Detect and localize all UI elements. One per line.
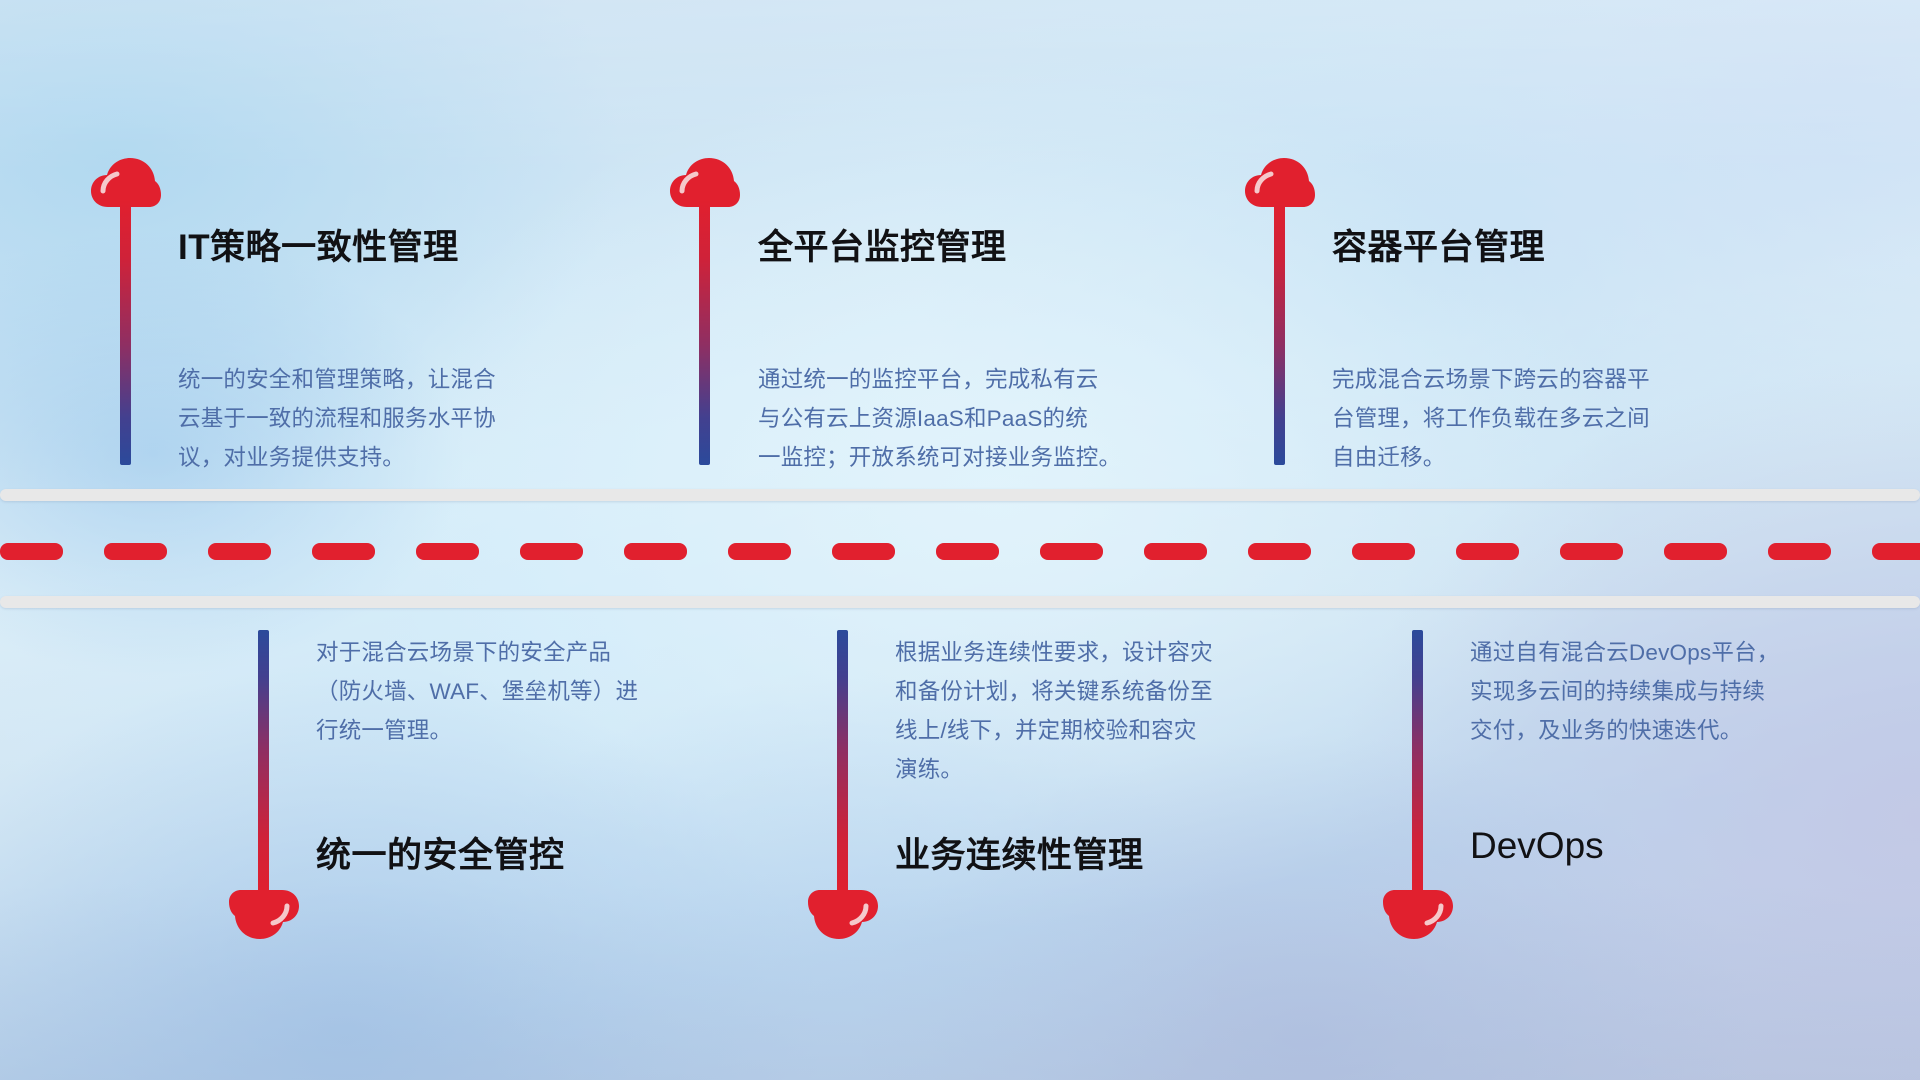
stem-bar [699, 200, 710, 465]
card-body: 根据业务连续性要求，设计容灾 和备份计划，将关键系统备份至 线上/线下，并定期校… [895, 633, 1335, 789]
road-dash [104, 543, 167, 560]
road-dash [1456, 543, 1519, 560]
road-dash [416, 543, 479, 560]
road-center-dashes [0, 543, 1920, 560]
cloud-icon [807, 888, 879, 940]
infographic-canvas: IT策略一致性管理 统一的安全和管理策略，让混合 云基于一致的流程和服务水平协 … [0, 0, 1920, 1080]
card-title: IT策略一致性管理 [178, 219, 459, 270]
road-dash [0, 543, 63, 560]
road-dash [1560, 543, 1623, 560]
road-dash [1248, 543, 1311, 560]
card-body: 统一的安全和管理策略，让混合 云基于一致的流程和服务水平协 议，对业务提供支持。 [178, 360, 618, 477]
road-dash [208, 543, 271, 560]
card-body: 完成混合云场景下跨云的容器平 台管理，将工作负载在多云之间 自由迁移。 [1332, 360, 1782, 477]
road-dash [1144, 543, 1207, 560]
stem-bar [837, 630, 848, 895]
card-title: 业务连续性管理 [895, 827, 1144, 878]
road-dash [1040, 543, 1103, 560]
road-dash [312, 543, 375, 560]
card-body: 通过自有混合云DevOps平台， 实现多云间的持续集成与持续 交付，及业务的快速… [1470, 633, 1910, 750]
road-dash [1768, 543, 1831, 560]
cloud-icon [228, 888, 300, 940]
road-edge-line-bottom [0, 596, 1920, 608]
cloud-icon [1382, 888, 1454, 940]
road-dash [728, 543, 791, 560]
stem-bar [120, 200, 131, 465]
road-dash [936, 543, 999, 560]
card-title: 全平台监控管理 [758, 219, 1007, 270]
stem-bar [1274, 200, 1285, 465]
card-title: 统一的安全管控 [316, 827, 565, 878]
card-title: DevOps [1470, 825, 1604, 867]
road-dash [1664, 543, 1727, 560]
card-title: 容器平台管理 [1332, 219, 1545, 270]
road-edge-line-top [0, 489, 1920, 501]
road-dash [832, 543, 895, 560]
road-dash [520, 543, 583, 560]
stem-bar [258, 630, 269, 895]
road-dash [624, 543, 687, 560]
road-dash [1352, 543, 1415, 560]
card-body: 通过统一的监控平台，完成私有云 与公有云上资源IaaS和PaaS的统 一监控；开… [758, 360, 1228, 477]
card-body: 对于混合云场景下的安全产品 （防火墙、WAF、堡垒机等）进 行统一管理。 [316, 633, 756, 750]
road-dash [1872, 543, 1920, 560]
stem-bar [1412, 630, 1423, 895]
